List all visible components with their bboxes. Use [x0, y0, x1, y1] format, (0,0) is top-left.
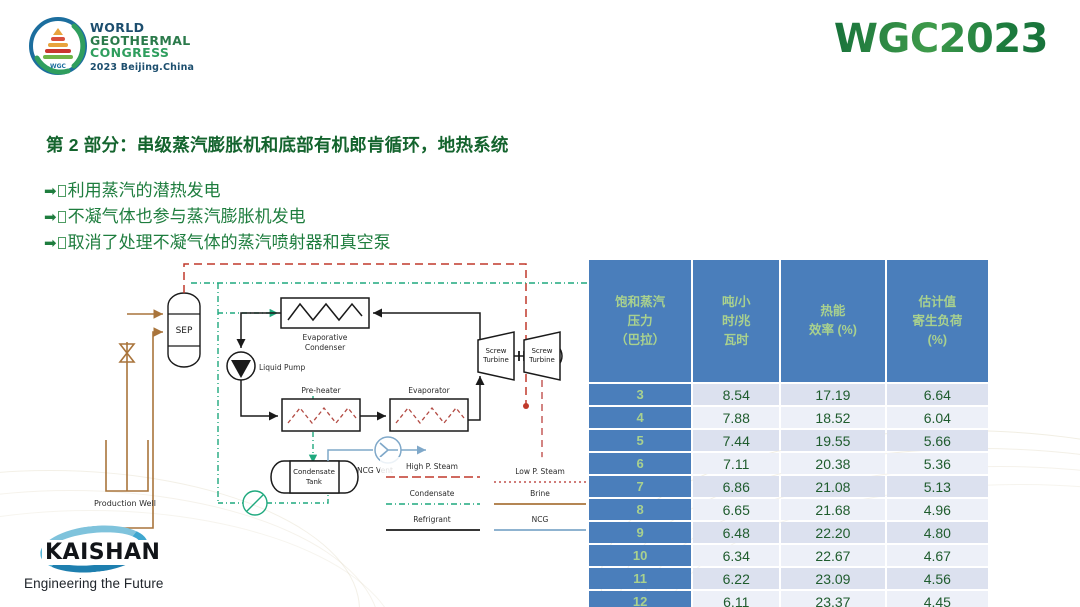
slide-root: WGC WORLD GEOTHERMAL CONGRESS 2023 Beiji…	[0, 0, 1080, 607]
cell-pressure: 9	[589, 522, 691, 543]
bullet-arrow-icon: ➡	[44, 230, 57, 256]
separator-label: SEP	[176, 326, 193, 336]
production-well-label: Production Well	[94, 499, 156, 508]
header-line: 效率 (%)	[783, 321, 883, 340]
wgc-emblem-label: WGC	[50, 63, 67, 70]
bullet-text: 取消了处理不凝气体的蒸汽喷射器和真空泵	[68, 230, 391, 256]
screw-turbine-2: Screw Turbine	[524, 332, 560, 380]
production-well-group: Production Well	[94, 314, 163, 528]
bullet-arrow-icon: ➡	[44, 204, 57, 230]
refrigerant-loop: Liquid Pump Pre-heater Evaporator	[227, 313, 480, 431]
cell-pressure: 11	[589, 568, 691, 589]
performance-table: 饱和蒸汽 压力 （巴拉） 吨/小 时/兆 瓦时 热能 效率 (%) 估计值	[587, 258, 990, 607]
liquid-pump-label: Liquid Pump	[259, 363, 305, 372]
header-line: （巴拉）	[591, 331, 689, 350]
screw-turbine-2-label-line2: Turbine	[528, 356, 555, 364]
column-header-saturated-steam-pressure: 饱和蒸汽 压力 （巴拉）	[589, 260, 691, 382]
column-header-thermal-efficiency: 热能 效率 (%)	[781, 260, 885, 382]
column-header-ton-per-mwh: 吨/小 时/兆 瓦时	[693, 260, 779, 382]
bullet-missing-glyph-icon	[58, 211, 66, 223]
cell-pressure: 6	[589, 453, 691, 474]
table-row: 38.5417.196.64	[589, 384, 988, 405]
condensate-tank-label-line1: Condensate	[293, 468, 335, 476]
evaporator-label: Evaporator	[408, 386, 450, 395]
list-item: ➡ 利用蒸汽的潜热发电	[44, 178, 391, 204]
wgc-congress-logo: WGC WORLD GEOTHERMAL CONGRESS 2023 Beiji…	[28, 16, 208, 78]
diagram-legend: High P. Steam Low P. Steam Condensate Br…	[380, 457, 588, 535]
screw-turbine-1-label-line1: Screw	[485, 347, 506, 355]
legend-label-ncg: NCG	[532, 515, 549, 524]
bullet-missing-glyph-icon	[58, 185, 66, 197]
cell-ton-per-mwh: 6.86	[693, 476, 779, 497]
header-line: 压力	[591, 312, 689, 331]
legend-label-condensate: Condensate	[410, 489, 455, 498]
bullet-missing-glyph-icon	[58, 237, 66, 249]
legend-label-low-p-steam: Low P. Steam	[515, 467, 565, 476]
wgc-word-subtitle: 2023 Beijing.China	[90, 62, 194, 73]
cell-thermal-eff: 23.09	[781, 568, 885, 589]
kaishan-wordmark: KAISHAN	[42, 540, 163, 565]
table-body: 38.5417.196.64 47.8818.526.04 57.4419.55…	[589, 384, 988, 607]
header-line: 瓦时	[695, 331, 777, 350]
bullet-text: 利用蒸汽的潜热发电	[68, 178, 221, 204]
table-row: 106.3422.674.67	[589, 545, 988, 566]
cell-ton-per-mwh: 7.11	[693, 453, 779, 474]
page-title: WGC2023	[834, 16, 1048, 62]
cell-thermal-eff: 18.52	[781, 407, 885, 428]
table-row: 47.8818.526.04	[589, 407, 988, 428]
cell-pressure: 12	[589, 591, 691, 607]
evaporative-condenser-label-line1: Evaporative	[303, 333, 348, 342]
header-line: 时/兆	[695, 312, 777, 331]
table-row: 126.1123.374.45	[589, 591, 988, 607]
bullet-list: ➡ 利用蒸汽的潜热发电 ➡ 不凝气体也参与蒸汽膨胀机发电 ➡ 取消了处理不凝气体…	[44, 178, 391, 256]
list-item: ➡ 取消了处理不凝气体的蒸汽喷射器和真空泵	[44, 230, 391, 256]
cell-ton-per-mwh: 6.65	[693, 499, 779, 520]
process-flow-svg: Production Well SEP	[28, 258, 588, 548]
cell-parasitic: 4.67	[887, 545, 988, 566]
wgc-emblem-icon: WGC	[28, 16, 88, 76]
table-row: 76.8621.085.13	[589, 476, 988, 497]
cell-ton-per-mwh: 7.44	[693, 430, 779, 451]
cell-thermal-eff: 22.20	[781, 522, 885, 543]
cell-pressure: 5	[589, 430, 691, 451]
legend-label-refrigrant: Refrigrant	[413, 515, 450, 524]
table-row: 86.6521.684.96	[589, 499, 988, 520]
cell-thermal-eff: 23.37	[781, 591, 885, 607]
cell-parasitic: 6.64	[887, 384, 988, 405]
cell-parasitic: 4.80	[887, 522, 988, 543]
legend-label-brine: Brine	[530, 489, 550, 498]
condensate-tank: Condensate Tank	[271, 461, 358, 493]
cell-ton-per-mwh: 6.34	[693, 545, 779, 566]
cell-ton-per-mwh: 7.88	[693, 407, 779, 428]
cell-pressure: 10	[589, 545, 691, 566]
bullet-arrow-icon: ➡	[44, 178, 57, 204]
table-row: 96.4822.204.80	[589, 522, 988, 543]
header-line: (%)	[889, 331, 986, 350]
cell-parasitic: 5.13	[887, 476, 988, 497]
header-line: 估计值	[889, 293, 986, 312]
kaishan-logo: KAISHAN Engineering the Future	[22, 528, 202, 598]
preheater-label: Pre-heater	[301, 386, 341, 395]
cell-thermal-eff: 21.68	[781, 499, 885, 520]
evaporative-condenser-label-line2: Condenser	[305, 343, 346, 352]
header-line: 寄生负荷	[889, 312, 986, 331]
screw-turbine-2-label-line1: Screw	[531, 347, 552, 355]
table-header-row: 饱和蒸汽 压力 （巴拉） 吨/小 时/兆 瓦时 热能 效率 (%) 估计值	[589, 260, 988, 382]
cell-pressure: 3	[589, 384, 691, 405]
evaporative-condenser: Evaporative Condenser	[281, 298, 369, 352]
cell-ton-per-mwh: 6.11	[693, 591, 779, 607]
cell-thermal-eff: 17.19	[781, 384, 885, 405]
cell-parasitic: 4.56	[887, 568, 988, 589]
table-row: 116.2223.094.56	[589, 568, 988, 589]
cell-parasitic: 4.45	[887, 591, 988, 607]
cell-ton-per-mwh: 8.54	[693, 384, 779, 405]
separator-vessel: SEP	[168, 293, 200, 367]
cell-ton-per-mwh: 6.48	[693, 522, 779, 543]
condensate-tank-label-line2: Tank	[305, 478, 323, 486]
legend-label-high-p-steam: High P. Steam	[406, 462, 458, 471]
header-line: 吨/小	[695, 293, 777, 312]
kaishan-tagline: Engineering the Future	[24, 576, 164, 591]
cell-pressure: 7	[589, 476, 691, 497]
screw-turbine-1-label-line2: Turbine	[482, 356, 509, 364]
header-line: 饱和蒸汽	[591, 293, 689, 312]
performance-table-container: 饱和蒸汽 压力 （巴拉） 吨/小 时/兆 瓦时 热能 效率 (%) 估计值	[587, 258, 990, 607]
header-line: 热能	[783, 302, 883, 321]
section-headline: 第 2 部分：串级蒸汽膨胀机和底部有机郎肯循环，地热系统	[46, 132, 509, 157]
cell-ton-per-mwh: 6.22	[693, 568, 779, 589]
cell-thermal-eff: 21.08	[781, 476, 885, 497]
column-header-estimated-parasitic-load: 估计值 寄生负荷 (%)	[887, 260, 988, 382]
table-row: 67.1120.385.36	[589, 453, 988, 474]
wgc-wordmark: WORLD GEOTHERMAL CONGRESS 2023 Beijing.C…	[90, 22, 194, 73]
wgc-word-line-3: CONGRESS	[90, 47, 194, 60]
list-item: ➡ 不凝气体也参与蒸汽膨胀机发电	[44, 204, 391, 230]
cell-parasitic: 6.04	[887, 407, 988, 428]
high-pressure-steam-line	[184, 264, 529, 409]
cell-parasitic: 5.36	[887, 453, 988, 474]
table-row: 57.4419.555.66	[589, 430, 988, 451]
process-flow-diagram: Production Well SEP	[28, 258, 588, 548]
cell-thermal-eff: 22.67	[781, 545, 885, 566]
cell-thermal-eff: 19.55	[781, 430, 885, 451]
cell-pressure: 4	[589, 407, 691, 428]
cell-parasitic: 5.66	[887, 430, 988, 451]
bullet-text: 不凝气体也参与蒸汽膨胀机发电	[68, 204, 306, 230]
cell-thermal-eff: 20.38	[781, 453, 885, 474]
cell-parasitic: 4.96	[887, 499, 988, 520]
cell-pressure: 8	[589, 499, 691, 520]
